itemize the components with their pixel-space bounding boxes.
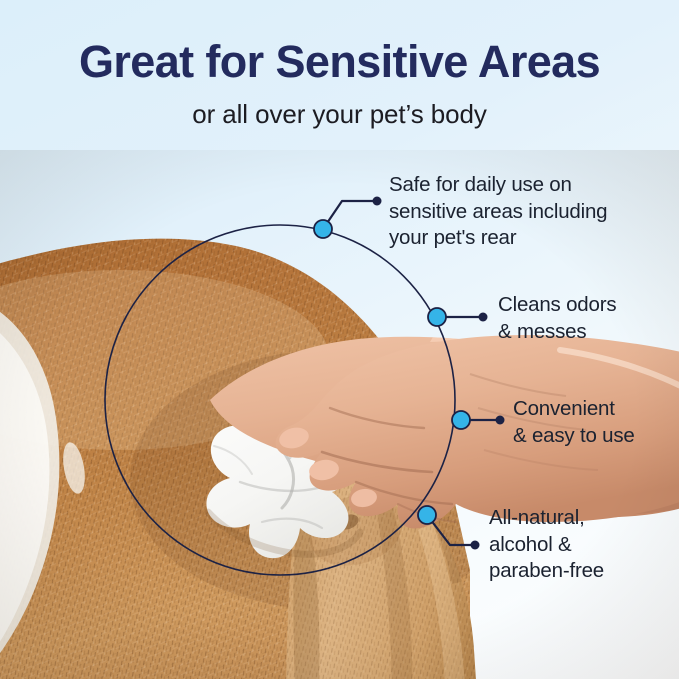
- header-block: Great for Sensitive Areas or all over yo…: [0, 0, 679, 130]
- callout-marker-convenient-easy[interactable]: [449, 408, 473, 432]
- callout-label-safe-for-daily-use: Safe for daily use on sensitive areas in…: [389, 172, 607, 252]
- callout-label-cleans-odors: Cleans odors & messes: [498, 292, 616, 345]
- callout-marker-cleans-odors[interactable]: [425, 305, 449, 329]
- page-subtitle: or all over your pet’s body: [0, 88, 679, 130]
- callout-label-convenient-easy: Convenient & easy to use: [513, 396, 635, 449]
- callout-marker-safe-for-daily-use[interactable]: [311, 217, 335, 241]
- page-title: Great for Sensitive Areas: [0, 0, 679, 88]
- product-infographic: Great for Sensitive Areas or all over yo…: [0, 0, 679, 679]
- callout-marker-all-natural[interactable]: [415, 503, 439, 527]
- callout-label-all-natural: All-natural, alcohol & paraben-free: [489, 505, 604, 585]
